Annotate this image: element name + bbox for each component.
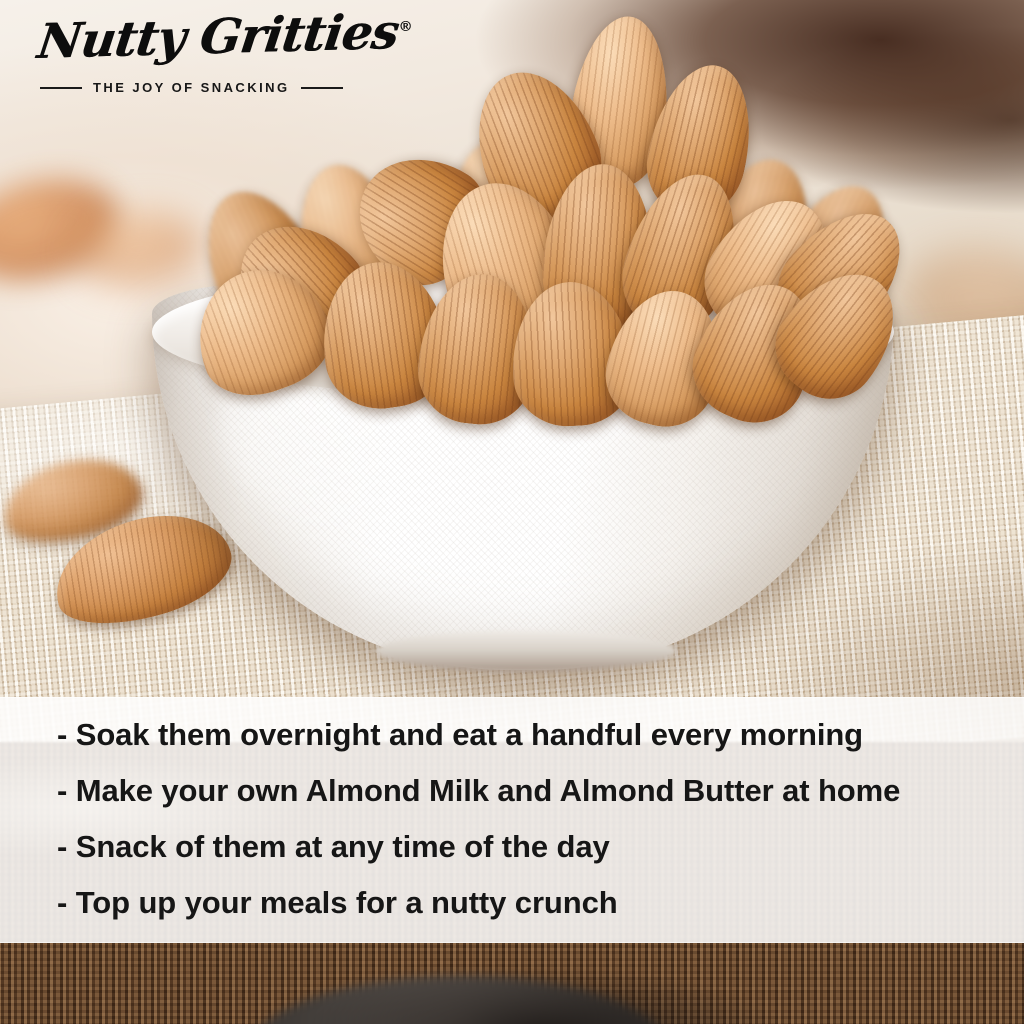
tagline-rule-right xyxy=(301,87,343,89)
dark-round-object xyxy=(250,976,670,1024)
tip-bullet-3: - Snack of them at any time of the day xyxy=(57,819,1024,875)
promotional-poster: Nutty Gritties® THE JOY OF SNACKING - So… xyxy=(0,0,1024,1024)
brand-wordmark: Nutty Gritties® xyxy=(35,8,413,66)
bowl-foot xyxy=(376,630,676,672)
tip-bullet-4: - Top up your meals for a nutty crunch xyxy=(57,875,1024,931)
brand-tagline: THE JOY OF SNACKING xyxy=(40,80,338,95)
tagline-text: THE JOY OF SNACKING xyxy=(93,80,290,95)
tips-panel: - Soak them overnight and eat a handful … xyxy=(0,697,1024,943)
tip-bullet-2: - Make your own Almond Milk and Almond B… xyxy=(57,763,1024,819)
brand-name-text: Nutty Gritties xyxy=(34,4,401,70)
registered-trademark-icon: ® xyxy=(400,19,411,33)
tagline-rule-left xyxy=(40,87,82,89)
brand-logo: Nutty Gritties® THE JOY OF SNACKING xyxy=(38,18,338,95)
tip-bullet-1: - Soak them overnight and eat a handful … xyxy=(57,707,1024,763)
